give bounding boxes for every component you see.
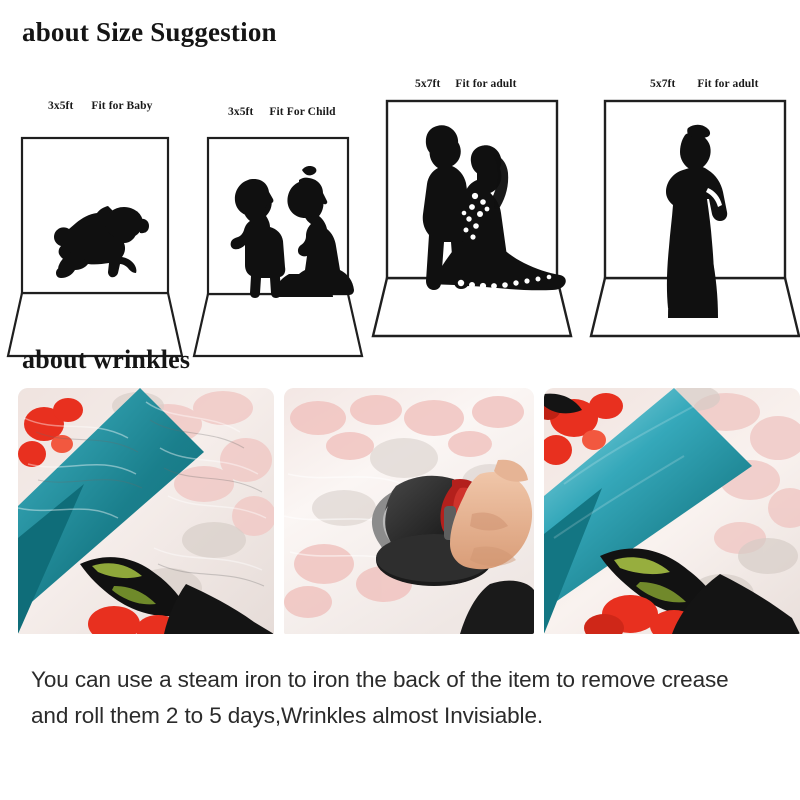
- section-heading-size-suggestion: about Size Suggestion: [22, 17, 277, 48]
- size-suggestion-row: 3x5ft Fit for Baby: [0, 78, 800, 328]
- panel-size-label-child: 3x5ft: [228, 106, 253, 118]
- size-panel-adult-woman: 5x7ft Fit for adult: [590, 78, 800, 328]
- wrinkle-instruction-line-1: You can use a steam iron to iron the bac…: [31, 662, 781, 698]
- backdrop-diagram-couple: [375, 96, 590, 324]
- size-panel-baby: 3x5ft Fit for Baby: [0, 78, 190, 328]
- panel-size-label-baby: 3x5ft: [48, 100, 73, 112]
- wrinkle-instruction-line-2: and roll them 2 to 5 days,Wrinkles almos…: [31, 698, 781, 734]
- panel-caption-baby: 3x5ft Fit for Baby: [48, 100, 152, 112]
- size-panel-couple: 5x7ft Fit for adult: [375, 78, 590, 328]
- size-panel-child: 3x5ft Fit For Child: [190, 78, 375, 328]
- panel-caption-couple: 5x7ft Fit for adult: [415, 78, 517, 90]
- panel-fit-label-child: Fit For Child: [269, 106, 335, 118]
- wrinkle-photo-row: [0, 388, 800, 634]
- panel-caption-adult-woman: 5x7ft Fit for adult: [650, 78, 759, 90]
- backdrop-diagram-adult-woman: [590, 96, 800, 324]
- backdrop-diagram-child: [190, 124, 375, 324]
- size-and-wrinkle-infographic: about Size Suggestion 3x5ft Fit for Baby: [0, 0, 800, 800]
- panel-fit-label-couple: Fit for adult: [455, 78, 516, 90]
- gown-skirt: [668, 256, 718, 318]
- panel-fit-label-baby: Fit for Baby: [91, 100, 152, 112]
- panel-caption-child: 3x5ft Fit For Child: [228, 106, 336, 118]
- baby-head: [105, 207, 143, 239]
- backdrop-diagram-baby: [0, 118, 190, 323]
- groom-head: [426, 125, 458, 158]
- photo-ironing-backdrop: [284, 388, 534, 634]
- wrinkle-instruction-text: You can use a steam iron to iron the bac…: [31, 662, 781, 734]
- panel-size-label-couple: 5x7ft: [415, 78, 440, 90]
- photo-wrinkled-backdrop: [18, 388, 274, 634]
- panel-size-label-adult-woman: 5x7ft: [650, 78, 675, 90]
- floor-plane: [194, 294, 362, 356]
- section-heading-wrinkles: about wrinkles: [22, 345, 190, 375]
- photo-smooth-backdrop: [544, 388, 800, 634]
- panel-fit-label-adult-woman: Fit for adult: [697, 78, 758, 90]
